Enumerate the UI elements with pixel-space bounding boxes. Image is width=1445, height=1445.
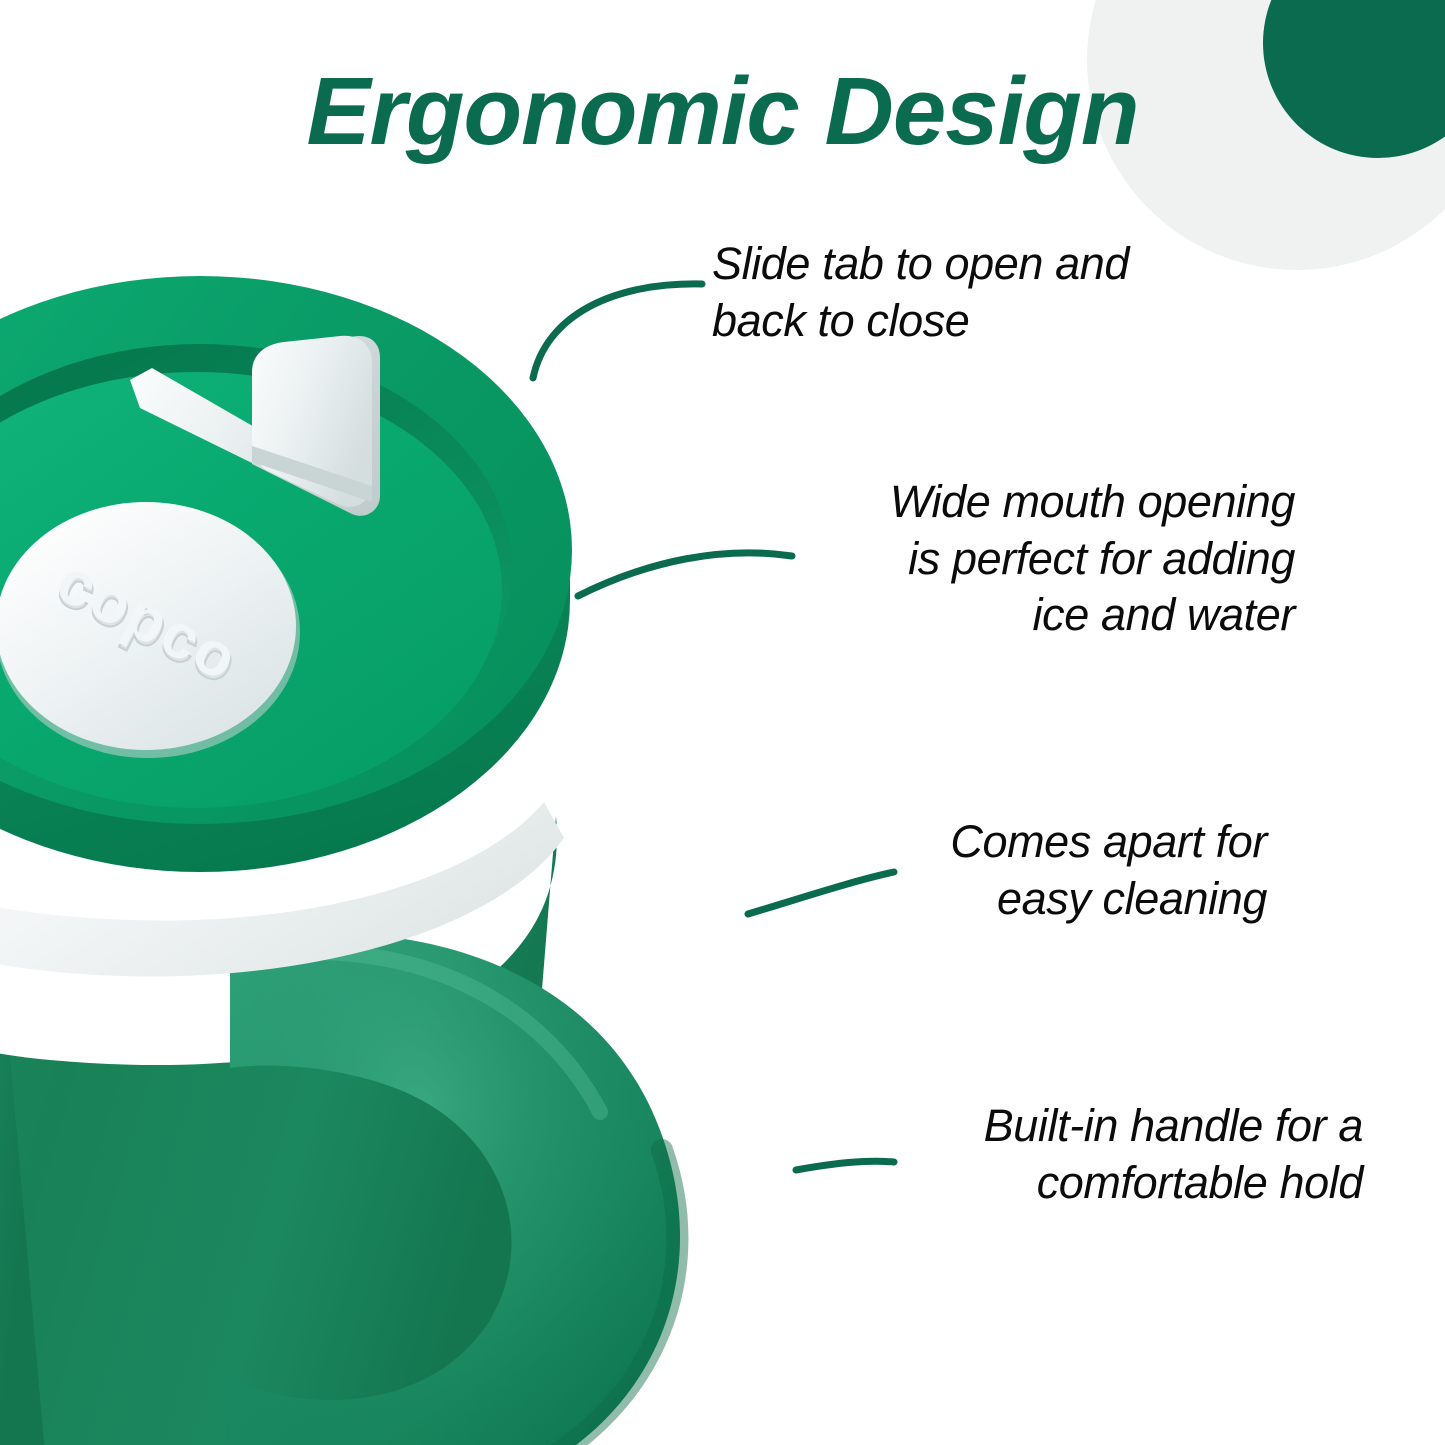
callout-built-in-handle: Built-in handle for a comfortable hold xyxy=(984,1098,1363,1211)
callout-easy-cleaning-line-2: easy cleaning xyxy=(950,871,1267,928)
callout-slide-tab-line-1: Slide tab to open and xyxy=(712,236,1129,293)
callout-easy-cleaning: Comes apart for easy cleaning xyxy=(950,814,1267,927)
page-title: Ergonomic Design xyxy=(0,62,1445,163)
callout-wide-mouth-line-3: ice and water xyxy=(890,587,1295,644)
product-illustration: copco copco xyxy=(0,250,860,1445)
callout-wide-mouth-line-1: Wide mouth opening xyxy=(890,474,1295,531)
callout-easy-cleaning-line-1: Comes apart for xyxy=(950,814,1267,871)
callout-wide-mouth-line-2: is perfect for adding xyxy=(890,531,1295,588)
callout-slide-tab: Slide tab to open and back to close xyxy=(712,236,1129,349)
callout-built-in-handle-line-2: comfortable hold xyxy=(984,1155,1363,1212)
infographic-canvas: Ergonomic Design xyxy=(0,0,1445,1445)
callout-built-in-handle-line-1: Built-in handle for a xyxy=(984,1098,1363,1155)
callout-wide-mouth: Wide mouth opening is perfect for adding… xyxy=(890,474,1295,644)
callout-slide-tab-line-2: back to close xyxy=(712,293,1129,350)
